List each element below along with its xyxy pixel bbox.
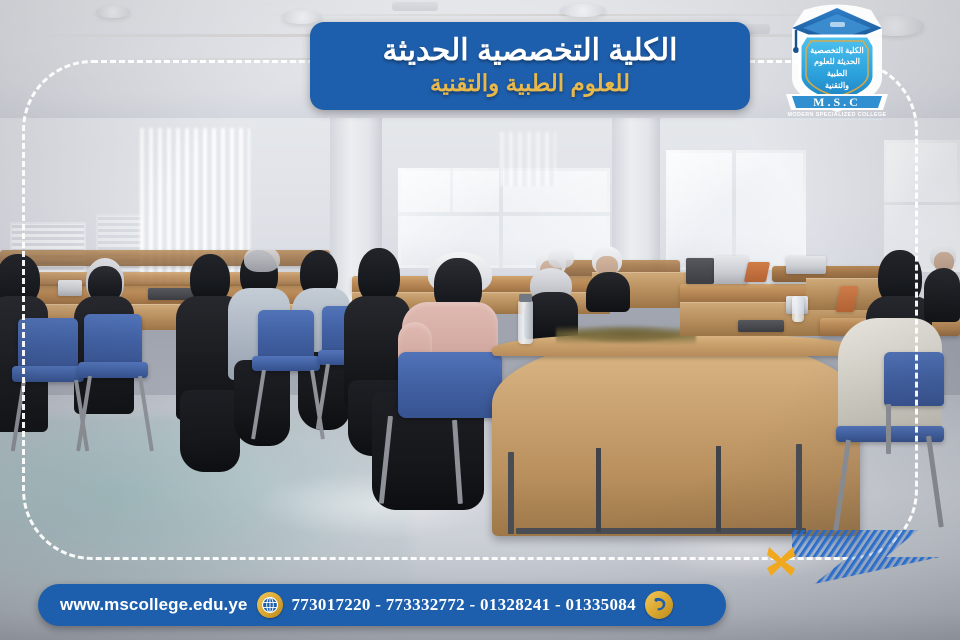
banner-title: الكلية التخصصية الحديثة bbox=[383, 34, 678, 68]
phone-numbers[interactable]: 773017220 - 773332772 - 01328241 - 01335… bbox=[292, 595, 636, 615]
phone-icon bbox=[645, 591, 673, 619]
svg-text:M.S.C: M.S.C bbox=[813, 95, 861, 109]
banner-subtitle: للعلوم الطبية والتقنية bbox=[430, 70, 630, 98]
website-url[interactable]: www.mscollege.edu.ye bbox=[60, 595, 248, 615]
promotional-banner: الكلية التخصصية الحديثة للعلوم الطبية وا… bbox=[0, 0, 960, 640]
striped-chevron-arrow-icon bbox=[790, 526, 960, 588]
svg-text:والتقنية: والتقنية bbox=[825, 81, 849, 91]
college-logo: الكلية التخصصية الحديثة للعلوم الطبية وا… bbox=[770, 2, 905, 120]
svg-text:الطبية: الطبية bbox=[827, 69, 847, 78]
contact-footer-bar: www.mscollege.edu.ye 773017220 - 7733327… bbox=[38, 584, 726, 626]
globe-icon bbox=[257, 592, 283, 618]
orange-x-mark-icon bbox=[764, 544, 798, 578]
svg-text:MODERN SPECIALIZED COLLEGE: MODERN SPECIALIZED COLLEGE bbox=[787, 112, 886, 118]
title-banner: الكلية التخصصية الحديثة للعلوم الطبية وا… bbox=[310, 22, 750, 110]
svg-text:الحديثة للعلوم: الحديثة للعلوم bbox=[814, 57, 860, 67]
svg-text:MEDICAL & TECHNICAL SCIENCE: MEDICAL & TECHNICAL SCIENCE bbox=[791, 119, 884, 120]
svg-text:الكلية التخصصية: الكلية التخصصية bbox=[810, 46, 863, 55]
